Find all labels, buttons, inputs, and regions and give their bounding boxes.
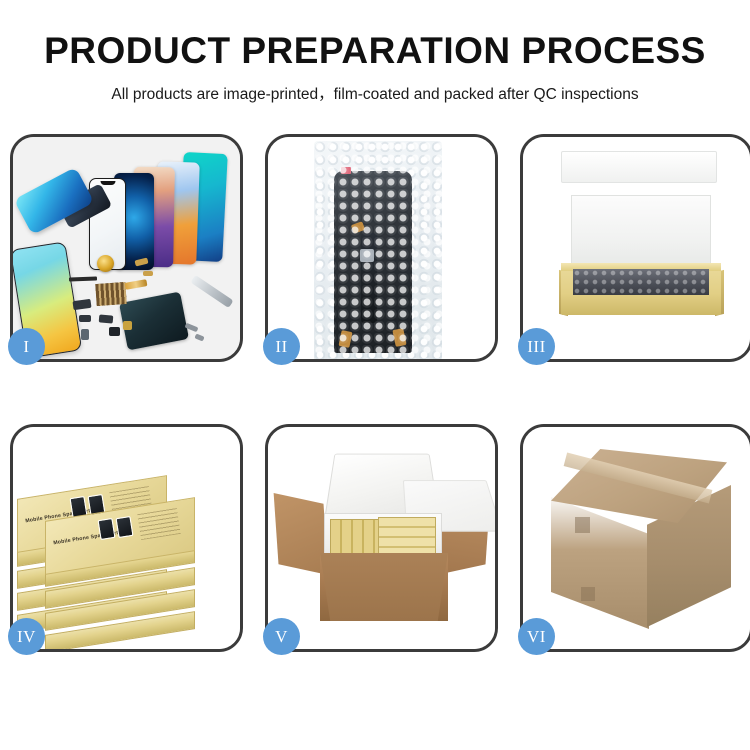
phone-parts-scene	[13, 137, 240, 359]
carton-front-face	[320, 553, 448, 621]
part-h-icon	[143, 271, 153, 276]
phone-screen-blue-icon	[14, 167, 95, 235]
panel-5-image	[268, 427, 495, 649]
foam-sheet	[571, 195, 711, 269]
screen-ic-chip-icon	[360, 249, 374, 262]
carton-handle-cut-b	[581, 587, 595, 601]
panel-2-image	[268, 137, 495, 359]
header: PRODUCT PREPARATION PROCESS All products…	[0, 0, 750, 104]
step-badge-5: V	[263, 618, 300, 655]
tweezers-icon	[190, 275, 233, 308]
step-badge-6: VI	[518, 618, 555, 655]
process-step-panel-6: VI	[520, 424, 750, 652]
speaker-coil-icon	[97, 255, 114, 272]
carton-handle-cut-a	[575, 517, 590, 533]
box-stack: Mobile Phone Spare Parts Mobile Phone Sp…	[13, 427, 240, 649]
box-phone-image-right-a	[98, 518, 116, 540]
process-step-panel-5: V	[265, 424, 498, 652]
step-badge-1: I	[8, 328, 45, 365]
process-step-panel-3: III	[520, 134, 750, 362]
styrofoam-lid	[325, 454, 440, 517]
panel-6-image	[523, 427, 750, 649]
process-step-grid: I II	[10, 134, 740, 679]
part-e-icon	[81, 329, 89, 340]
part-a-icon	[72, 299, 91, 310]
chip-array-icon	[95, 282, 126, 306]
panel-4-image: Mobile Phone Spare Parts Mobile Phone Sp…	[13, 427, 240, 649]
part-d-icon	[109, 327, 120, 336]
panel-1-image	[13, 137, 240, 359]
part-c-icon	[99, 314, 114, 323]
screen-flex-cable-icon	[361, 233, 377, 323]
bubble-wrapped-contents	[573, 269, 709, 295]
page-subtitle: All products are image-printed，film-coat…	[0, 82, 750, 104]
process-step-panel-2: II	[265, 134, 498, 362]
process-step-panel-1: I	[10, 134, 243, 362]
process-step-panel-4: Mobile Phone Spare Parts Mobile Phone Sp…	[10, 424, 243, 652]
part-f-icon	[123, 321, 132, 330]
box-phone-image-right-b	[116, 516, 134, 538]
pink-pull-tab-icon	[341, 167, 351, 174]
phone-notch-icon	[100, 181, 115, 185]
step-badge-3: III	[518, 328, 555, 365]
carton-left-face	[551, 497, 649, 629]
flex-cable-icon	[125, 279, 148, 290]
earpiece-mesh-icon	[69, 277, 97, 282]
step-badge-4: IV	[8, 618, 45, 655]
page-title: PRODUCT PREPARATION PROCESS	[0, 32, 750, 71]
part-j-icon	[194, 333, 204, 341]
panel-3-image	[523, 137, 750, 359]
product-preparation-infographic: PRODUCT PREPARATION PROCESS All products…	[0, 0, 750, 750]
box-lid-flap	[561, 151, 717, 183]
part-b-icon	[79, 315, 91, 322]
step-badge-2: II	[263, 328, 300, 365]
